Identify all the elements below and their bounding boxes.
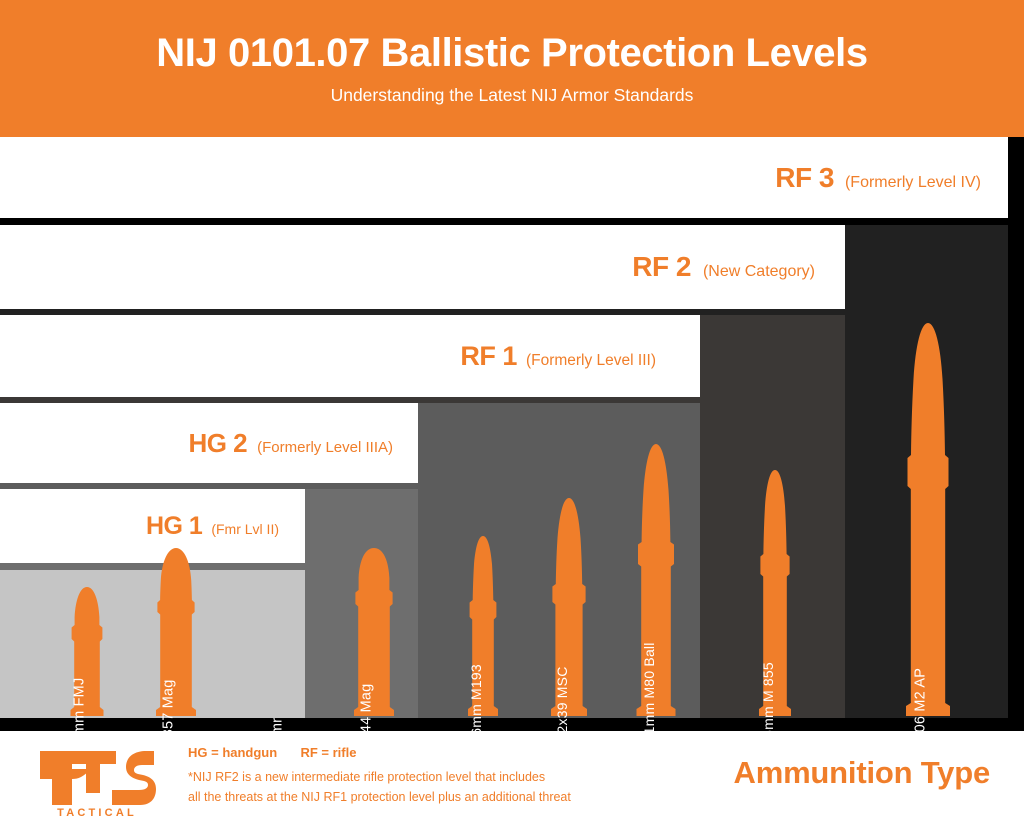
round-556mm-m193: 5.56mm M193: [440, 536, 526, 718]
level-note-hg1: (Fmr Lvl II): [211, 521, 279, 537]
level-label-band-rf1: RF 1 (Formerly Level III): [0, 315, 700, 397]
round-556mm-m855: 5.56mm M 855: [705, 470, 845, 718]
infographic-page: NIJ 0101.07 Ballistic Protection Levels …: [0, 0, 1024, 830]
round-762x39-msc: 7.62x39 MSC: [526, 498, 612, 718]
level-code-rf2: RF 2: [632, 251, 691, 283]
page-subtitle: Understanding the Latest NIJ Armor Stand…: [331, 85, 694, 106]
rifle-cartridge-icon: [890, 323, 966, 718]
round-label: .44 Mag: [359, 683, 374, 737]
level-code-hg2: HG 2: [188, 428, 247, 459]
level-code-rf1: RF 1: [460, 341, 517, 372]
ammo-group-rf3: 30.06 M2 AP: [848, 225, 1008, 718]
legend-note-line-1: *NIJ RF2 is a new intermediate rifle pro…: [188, 767, 571, 787]
page-header: NIJ 0101.07 Ballistic Protection Levels …: [0, 0, 1024, 137]
rts-tactical-logo: [38, 747, 156, 809]
ammo-group-rf2: 5.56mm M 855: [705, 315, 845, 718]
level-note-rf3: (Formerly Level IV): [845, 174, 981, 192]
level-label-band-rf2: RF 2 (New Category): [0, 225, 845, 309]
legend-rf-label: RF = rifle: [300, 745, 356, 760]
page-footer: TACTICAL HG = handgun RF = rifle *NIJ RF…: [0, 731, 1024, 830]
round-357-mag: .357 Mag: [131, 548, 220, 718]
level-label-band-rf3: RF 3 (Formerly Level IV): [0, 137, 1008, 218]
protection-level-chart: RF 3 (Formerly Level IV) 30.06 M2 AP: [0, 137, 1024, 731]
round-9mm-fmj-hg1: 9mm FMJ: [42, 587, 131, 718]
level-code-hg1: HG 1: [146, 512, 202, 541]
level-code-rf3: RF 3: [775, 162, 834, 194]
ammo-group-rf1: 5.56mm M193 7.62x39 MSC 7.62x51mm M80 Ba…: [440, 403, 700, 718]
legend-block: HG = handgun RF = rifle *NIJ RF2 is a ne…: [188, 745, 571, 808]
round-3006-m2-ap: 30.06 M2 AP: [848, 323, 1008, 718]
level-group-hg1: HG 1 (Fmr Lvl II) 9mm FMJ: [0, 489, 305, 718]
ammo-group-hg1: 9mm FMJ .357 Mag: [42, 570, 220, 718]
round-762x51mm-m80-ball: 7.62x51mm M80 Ball: [612, 444, 700, 718]
x-axis-title: Ammunition Type: [734, 755, 990, 791]
logo-tagline: TACTICAL: [38, 807, 156, 819]
legend-note-line-2: all the threats at the NIJ RF1 protectio…: [188, 787, 571, 807]
page-title: NIJ 0101.07 Ballistic Protection Levels: [156, 32, 867, 74]
legend-abbreviations: HG = handgun RF = rifle: [188, 745, 571, 760]
level-panel-hg1: 9mm FMJ .357 Mag: [0, 570, 305, 718]
level-note-rf1: (Formerly Level III): [526, 352, 656, 370]
legend-hg-label: HG = handgun: [188, 745, 277, 760]
round-44-mag: .44 Mag: [329, 548, 418, 718]
level-label-band-hg2: HG 2 (Formerly Level IIIA): [0, 403, 418, 483]
level-note-hg2: (Formerly Level IIIA): [257, 439, 393, 456]
level-note-rf2: (New Category): [703, 263, 815, 281]
